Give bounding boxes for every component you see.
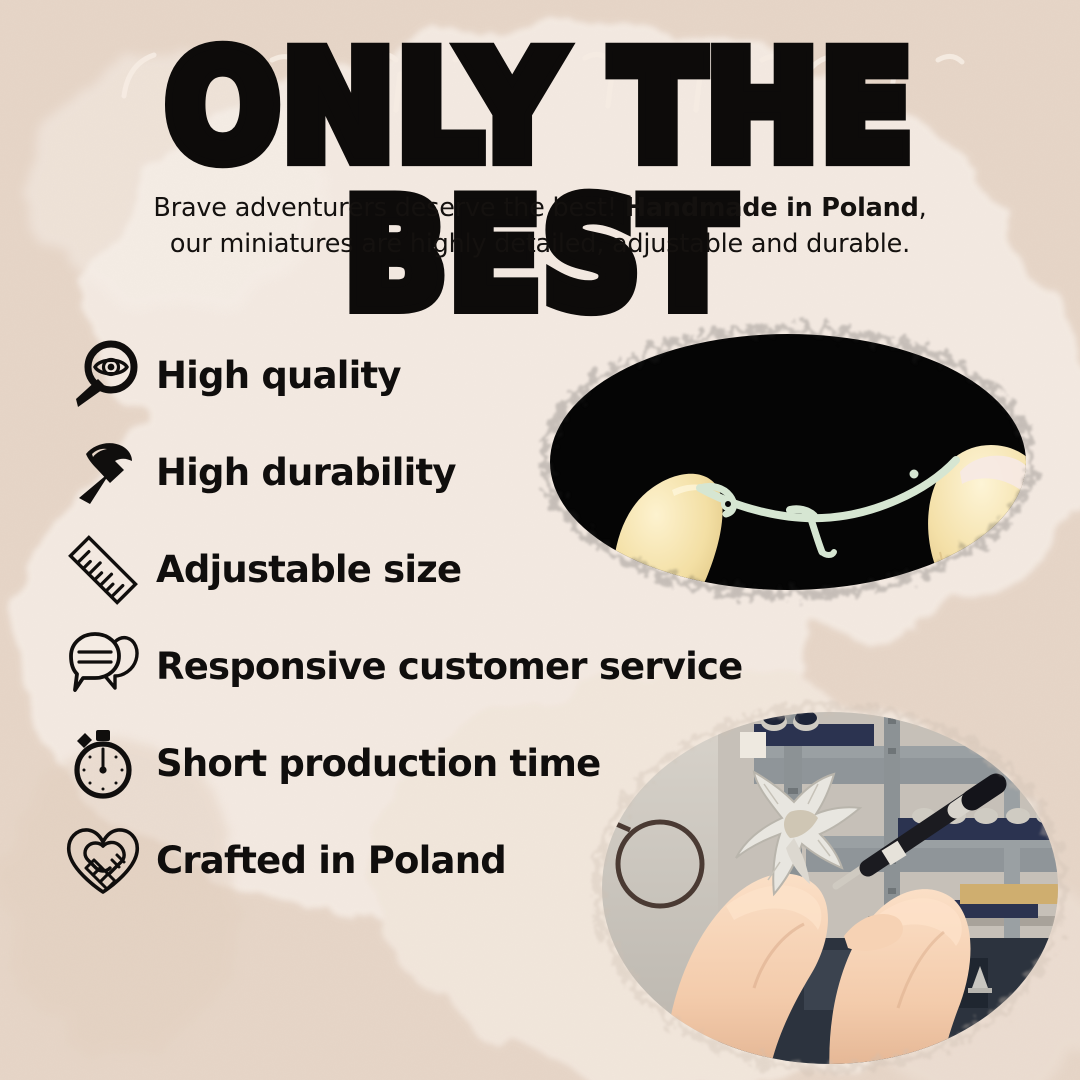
magnifier-eye-icon <box>62 336 144 416</box>
feature-label: Adjustable size <box>156 548 461 591</box>
feature-label: Short production time <box>156 742 600 785</box>
feature-label: Crafted in Poland <box>156 839 506 882</box>
feature-label: High quality <box>156 354 401 397</box>
subtitle: Brave adventurers deserve the best! Hand… <box>0 190 1080 262</box>
subtitle-line-1: Brave adventurers deserve the best! Hand… <box>0 190 1080 226</box>
feature-item-crafted-in-poland[interactable]: Crafted in Poland <box>62 812 802 909</box>
feature-item-high-quality[interactable]: High quality <box>62 327 802 424</box>
feature-item-adjustable-size[interactable]: Adjustable size <box>62 521 802 618</box>
headline-text: ONLY THE BEST <box>0 34 1080 330</box>
feature-item-production-time[interactable]: Short production time <box>62 715 802 812</box>
speech-bubbles-icon <box>62 627 144 707</box>
feature-item-customer-service[interactable]: Responsive customer service <box>62 618 802 715</box>
stopwatch-icon <box>62 724 144 804</box>
subtitle-line-1-regular: Brave adventurers deserve the best! <box>153 193 624 223</box>
feature-label: Responsive customer service <box>156 645 742 688</box>
subtitle-line-1-bold: Handmade in Poland <box>625 193 919 223</box>
feature-label: High durability <box>156 451 456 494</box>
subtitle-line-2: our miniatures are highly detailed, adju… <box>0 226 1080 262</box>
ruler-icon <box>62 530 144 610</box>
feature-item-high-durability[interactable]: High durability <box>62 424 802 521</box>
feature-list: High quality High durability <box>62 327 802 909</box>
subtitle-line-1-tail: , <box>919 193 927 223</box>
hammer-icon <box>62 433 144 513</box>
heart-handshake-icon <box>62 821 144 901</box>
